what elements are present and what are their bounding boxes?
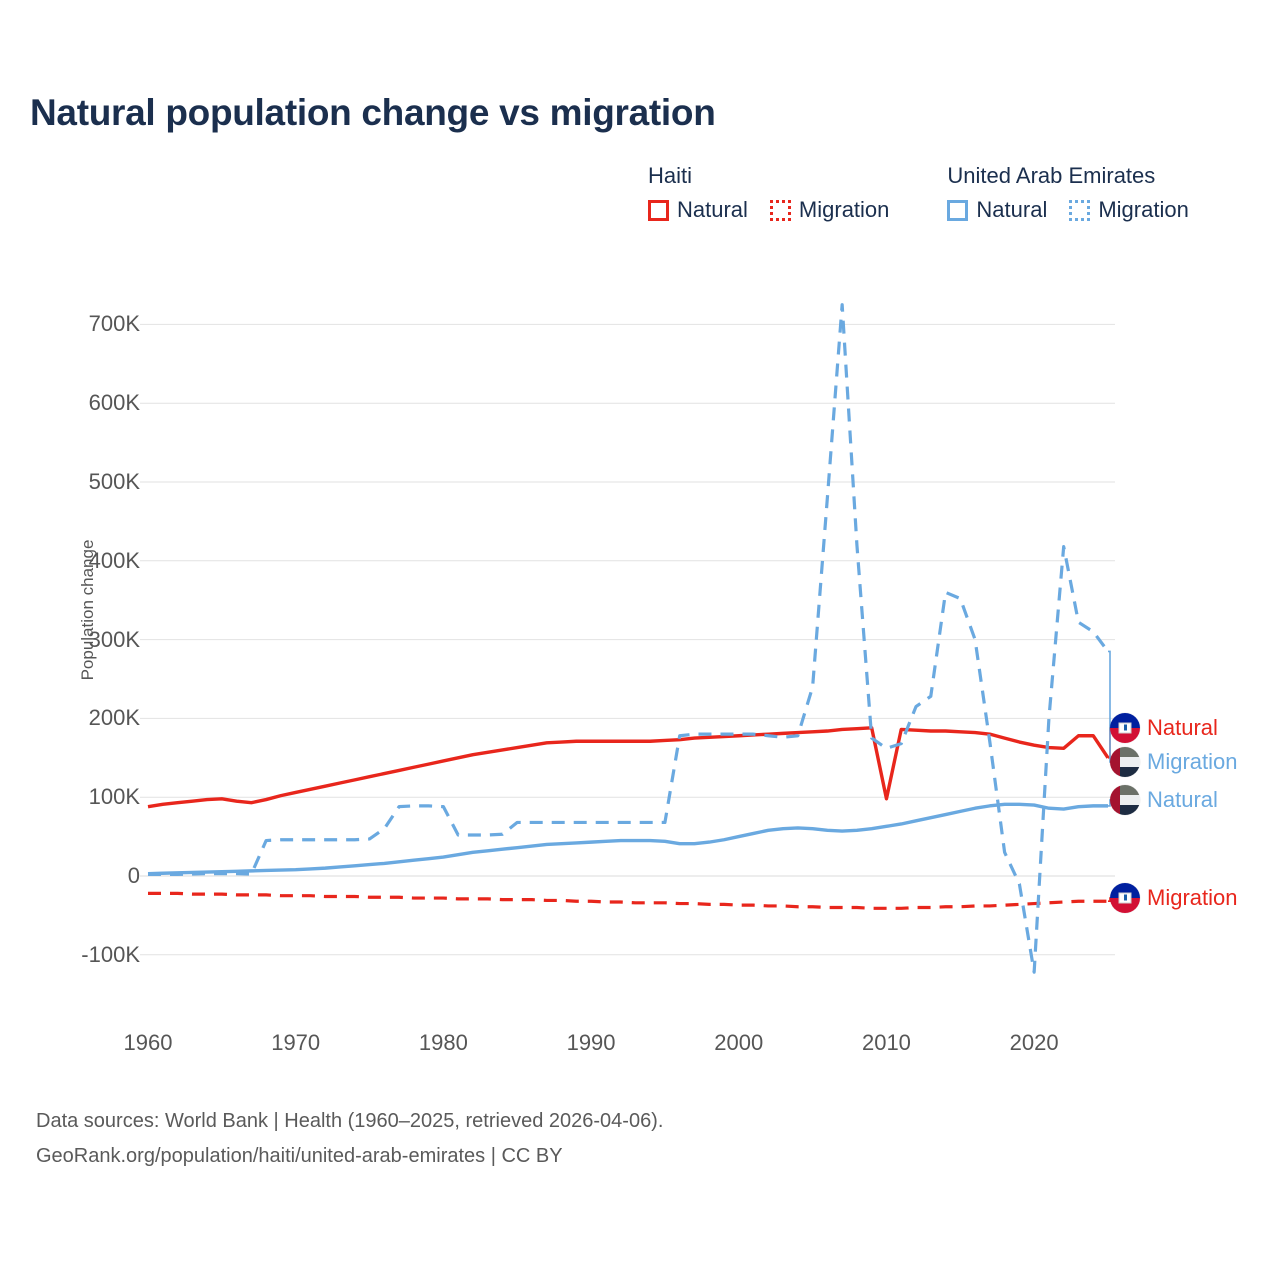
series-end-label-text: Migration: [1147, 749, 1237, 775]
chart-plot-area: [0, 0, 1280, 1280]
footer-attribution: Data sources: World Bank | Health (1960–…: [36, 1104, 663, 1174]
series-line: [148, 728, 1108, 807]
footer-line-2: GeoRank.org/population/haiti/united-arab…: [36, 1139, 663, 1174]
haiti-flag-icon: [1110, 883, 1140, 913]
series-end-label-text: Natural: [1147, 787, 1218, 813]
series-end-label[interactable]: Natural: [1110, 713, 1218, 743]
series-line: [148, 893, 1108, 908]
series-end-label[interactable]: Natural: [1110, 785, 1218, 815]
series-end-label-text: Natural: [1147, 715, 1218, 741]
series-end-label[interactable]: Migration: [1110, 883, 1237, 913]
uae-flag-icon: [1110, 747, 1140, 777]
footer-line-1: Data sources: World Bank | Health (1960–…: [36, 1104, 663, 1139]
series-end-label[interactable]: Migration: [1110, 747, 1237, 777]
series-end-label-text: Migration: [1147, 885, 1237, 911]
series-line: [148, 305, 1108, 972]
haiti-flag-icon: [1110, 713, 1140, 743]
uae-flag-icon: [1110, 785, 1140, 815]
end-label-connector: [1108, 651, 1114, 762]
